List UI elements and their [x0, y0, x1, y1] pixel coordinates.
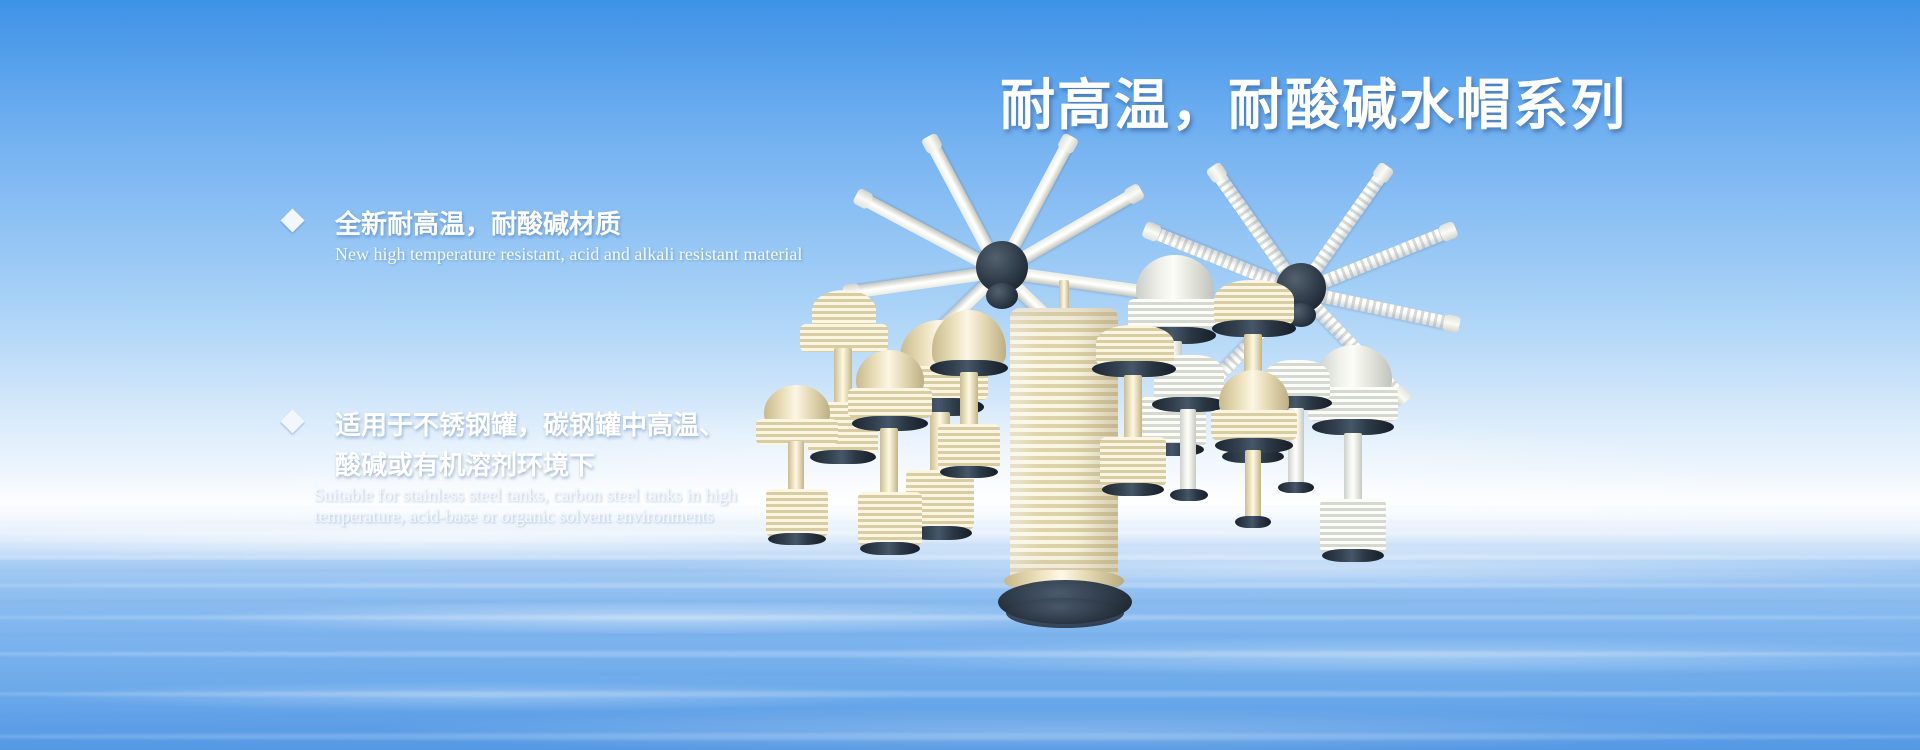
diamond-bullet-icon: [280, 409, 304, 433]
diamond-bullet-icon: [280, 208, 304, 232]
bullet-2-english-line-1: Suitable for stainless steel tanks, carb…: [314, 484, 1044, 507]
bullet-1-chinese: 全新耐高温，耐酸碱材质: [335, 205, 1044, 245]
product-disc-nozzle-k: [1080, 325, 1190, 625]
banner-headline: 耐高温，耐酸碱水帽系列: [1000, 60, 1627, 140]
bullet-1-english: New high temperature resistant, acid and…: [335, 243, 1044, 266]
bullet-2-english-line-2: temperature, acid-base or organic solven…: [314, 505, 1044, 528]
bullet-2-chinese-line-2: 酸碱或有机溶剂环境下: [335, 446, 1044, 486]
bullet-item-2: 适用于不锈钢罐，碳钢罐中高温、 酸碱或有机溶剂环境下 Suitable for …: [284, 406, 1044, 528]
product-banner: 耐高温，耐酸碱水帽系列 全新耐高温，耐酸碱材质 New high tempera…: [0, 0, 1920, 750]
product-dome-nozzle-l: [1205, 370, 1305, 650]
bullet-item-1: 全新耐高温，耐酸碱材质 New high temperature resista…: [284, 205, 1044, 266]
banner-bullet-list: 全新耐高温，耐酸碱材质 New high temperature resista…: [284, 205, 1044, 528]
bullet-2-chinese-line-1: 适用于不锈钢罐，碳钢罐中高温、: [335, 406, 1044, 446]
